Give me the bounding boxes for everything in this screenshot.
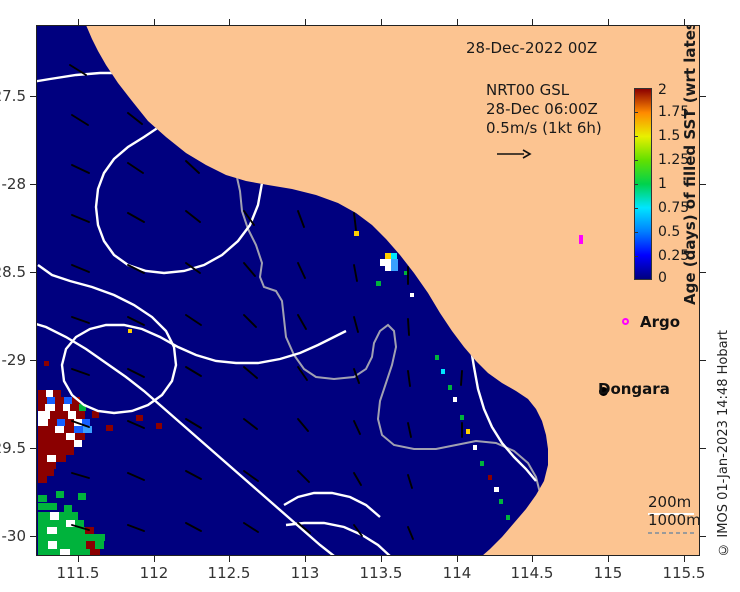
x-tick-label: 111.5 — [57, 564, 100, 582]
x-tick-label: 114 — [443, 564, 472, 582]
x-tick-label: 113.5 — [360, 564, 403, 582]
x-axis: 111.5 112 112.5 113 113.5 114 114.5 115 … — [0, 0, 740, 592]
x-tick-label: 115.5 — [663, 564, 706, 582]
x-tick-label: 112 — [140, 564, 169, 582]
x-tick-label: 112.5 — [208, 564, 251, 582]
credit-text: © IMOS 01-Jan-2023 14:48 Hobart — [716, 330, 731, 557]
x-tick-label: 113 — [291, 564, 320, 582]
x-tick-label: 114.5 — [511, 564, 554, 582]
figure-canvas: 28-Dec-2022 00Z NRT00 GSL 28-Dec 06:00Z … — [0, 0, 740, 592]
x-tick-label: 115 — [594, 564, 623, 582]
